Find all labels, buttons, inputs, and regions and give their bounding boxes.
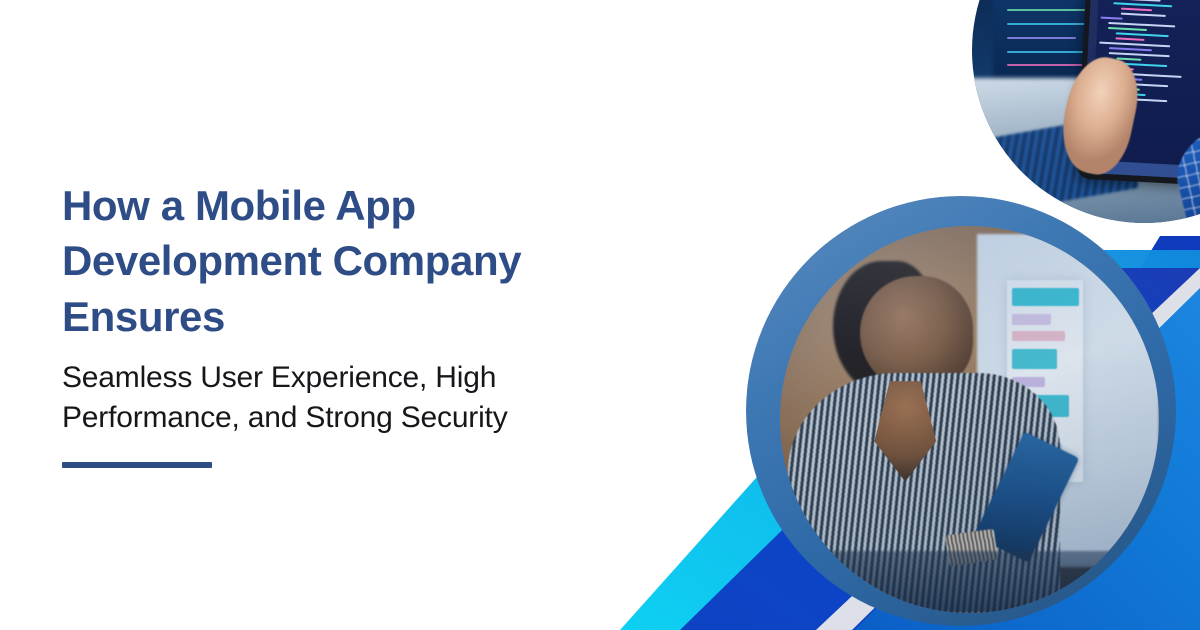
accent-underline xyxy=(62,462,212,468)
artwork-panel xyxy=(620,0,1200,630)
big-circle-photo xyxy=(746,196,1176,626)
social-banner: How a Mobile App Development Company Ens… xyxy=(0,0,1200,630)
woman-holding-smartphone-photo xyxy=(780,226,1158,613)
blue-color-wash xyxy=(780,226,1158,613)
text-column: How a Mobile App Development Company Ens… xyxy=(62,178,622,468)
page-subtitle: Seamless User Experience, High Performan… xyxy=(62,358,622,437)
page-title: How a Mobile App Development Company Ens… xyxy=(62,178,622,344)
small-circle-photo xyxy=(972,0,1200,223)
